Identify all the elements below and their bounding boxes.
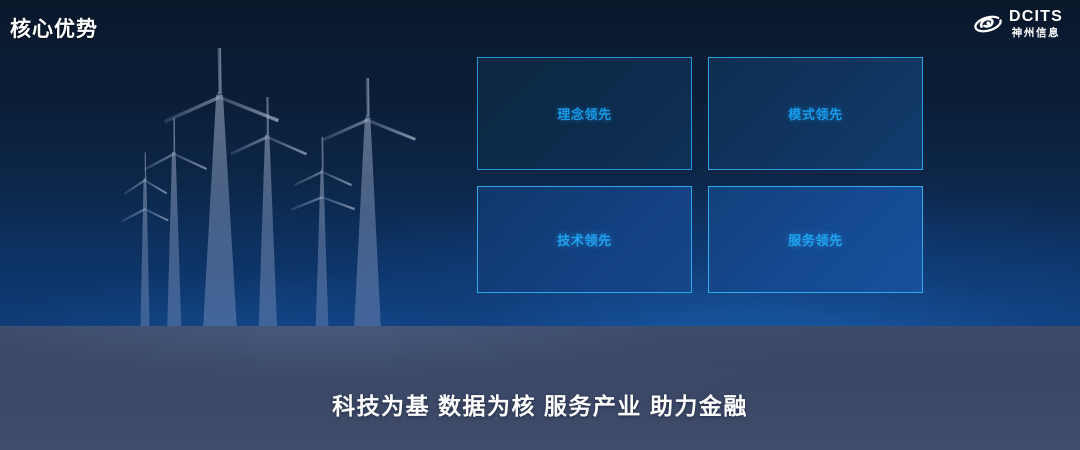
card-technology-leading[interactable]: 技术领先 — [477, 186, 692, 293]
slide-root: 核心优势 DCITS 神州信息 理念领先 模式领先 技术领先 服务领先 科 — [0, 0, 1080, 450]
advantage-card-grid: 理念领先 模式领先 技术领先 服务领先 — [477, 57, 923, 293]
logo-english-name: DCITS — [1009, 9, 1063, 25]
dcits-swoosh-icon — [973, 9, 1003, 39]
logo-chinese-name: 神州信息 — [1012, 28, 1060, 39]
page-title: 核心优势 — [10, 13, 98, 43]
card-label: 模式领先 — [788, 104, 842, 123]
slide-tagline: 科技为基 数据为核 服务产业 助力金融 — [0, 387, 1080, 421]
card-label: 服务领先 — [788, 230, 842, 249]
card-label: 理念领先 — [557, 104, 611, 123]
card-service-leading[interactable]: 服务领先 — [708, 186, 923, 293]
card-model-leading[interactable]: 模式领先 — [708, 57, 923, 170]
brand-logo: DCITS 神州信息 — [973, 9, 1063, 39]
logo-wordmark: DCITS 神州信息 — [1009, 9, 1063, 39]
card-label: 技术领先 — [557, 230, 611, 249]
card-concept-leading[interactable]: 理念领先 — [477, 57, 692, 170]
